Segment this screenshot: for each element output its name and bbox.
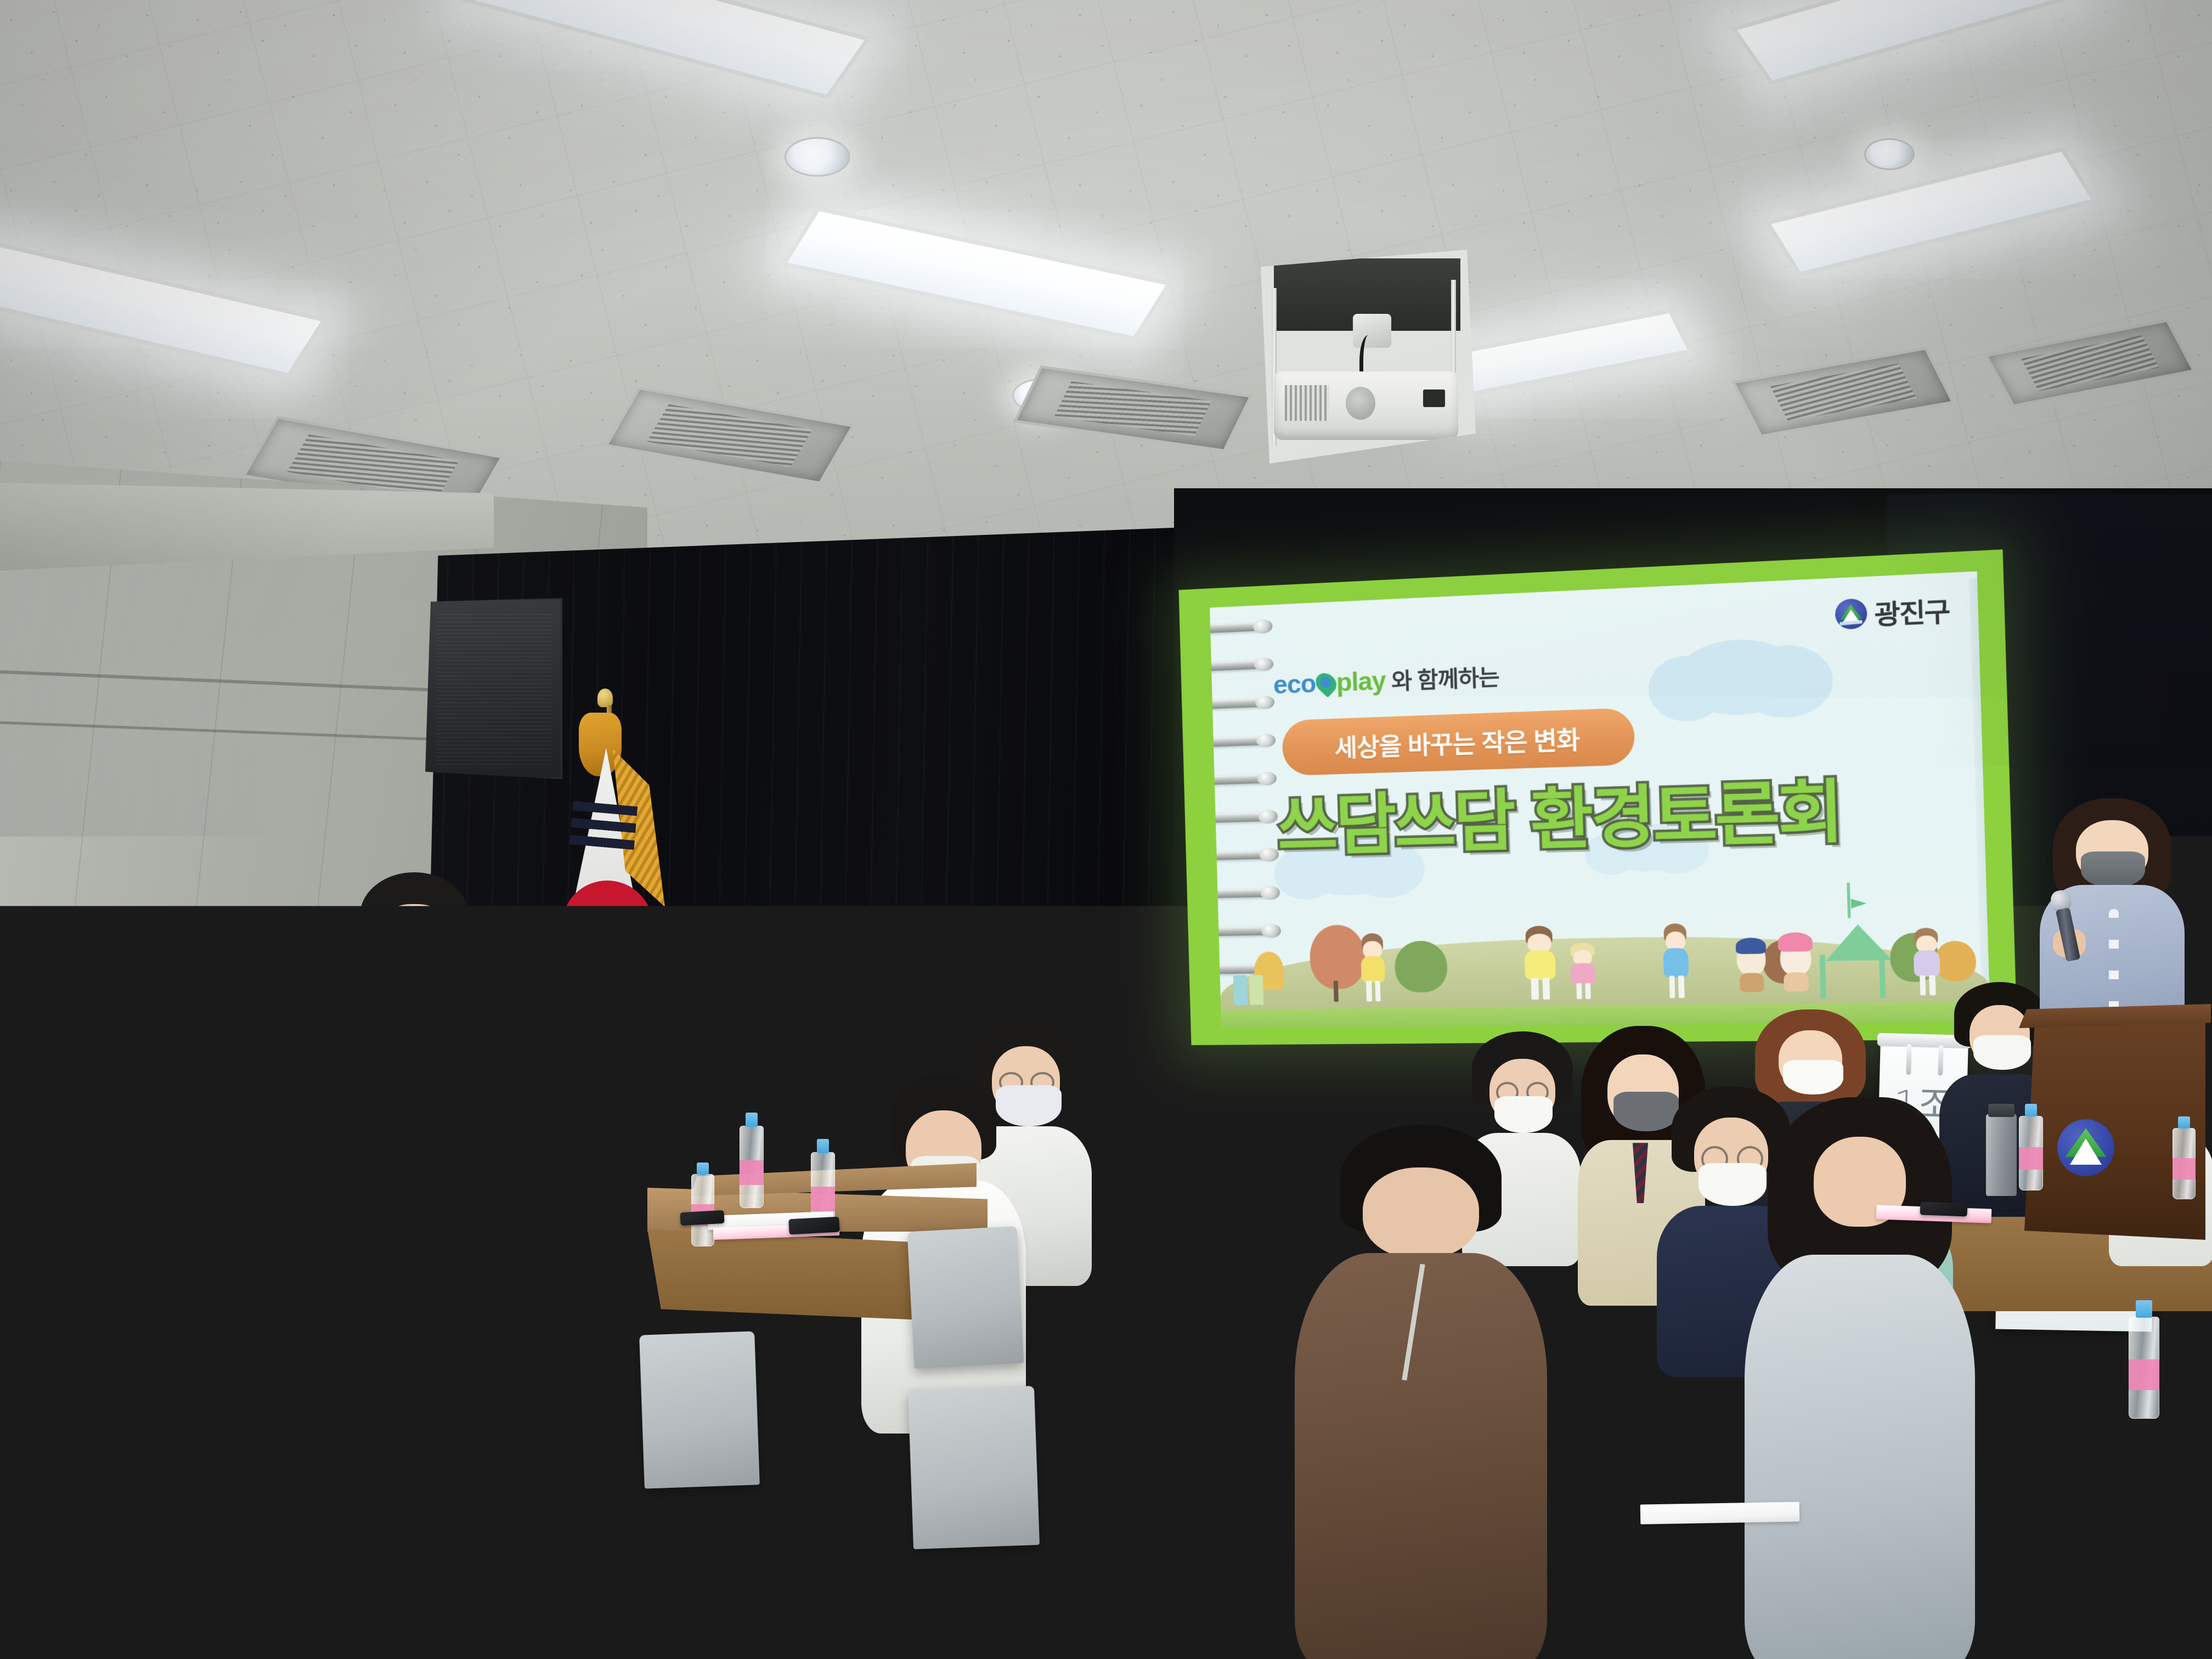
- recycling-bin-icon: [1249, 975, 1264, 1005]
- spiral-binding-ring: [1210, 812, 1274, 823]
- thermos-tumbler: [1986, 1114, 2017, 1196]
- glasses-bridge: [410, 949, 421, 951]
- smartphone: [788, 1217, 839, 1235]
- sign-clip-bar: [74, 1168, 234, 1190]
- group-sign-4: 4조: [80, 1181, 231, 1365]
- sign-ring: [759, 1048, 764, 1077]
- booklet: [1640, 1502, 1800, 1524]
- projector: [1274, 371, 1458, 440]
- moderator-at-podium: [2030, 798, 2194, 1040]
- flag-taeguk-circle: [562, 881, 653, 972]
- gwangjin-gu-logo-mark: [1835, 599, 1867, 630]
- spiral-binding-ring: [1210, 774, 1273, 785]
- ceiling-downlight: [785, 137, 850, 177]
- water-bottle: [0, 1325, 26, 1427]
- spiral-binding-ring: [1210, 850, 1275, 861]
- water-bottle: [740, 1126, 764, 1208]
- ceiling-downlight: [1864, 138, 1915, 170]
- slide-main-title: 쓰담쓰담 환경토론회: [1276, 756, 1843, 868]
- smartphone: [1920, 1202, 1968, 1217]
- projection-screen: 광진구 ecoplay 와 함께하는 세상을 바꾸는 작은 변화 쓰담쓰담 환경…: [1179, 550, 2018, 1046]
- ecoplay-logo: ecoplay: [1273, 665, 1386, 699]
- flag-trigram: [569, 801, 638, 850]
- sign-ring: [1906, 1044, 1911, 1075]
- chair: [305, 1533, 474, 1659]
- cloud-decoration: [1674, 637, 1803, 718]
- sign-ring: [118, 1187, 123, 1234]
- slide-presenter-line: ecoplay 와 함께하는: [1273, 659, 1499, 701]
- seated-participant-foreground: [1295, 1125, 1547, 1659]
- podium-gwangjin-emblem: [2057, 1119, 2114, 1176]
- water-bottle: [2129, 1317, 2159, 1419]
- ecoplay-play-text: play: [1336, 665, 1386, 696]
- pavilion-flagpole: [1847, 883, 1851, 918]
- chair: [907, 1226, 1024, 1369]
- sign-clip-bar: [733, 1036, 819, 1051]
- water-bottle: [23, 1370, 56, 1480]
- spiral-binding-ring: [1210, 927, 1277, 936]
- water-bottle: [2172, 1128, 2196, 1199]
- chair: [639, 1331, 760, 1488]
- spiral-binding-ring: [1210, 698, 1271, 709]
- tree-trunk: [1334, 980, 1339, 1002]
- volunteer-illustration: [1567, 943, 1598, 1000]
- recycling-bin-icon: [1233, 975, 1248, 1005]
- pavilion-flag-icon: [1850, 899, 1867, 912]
- water-bottle: [2019, 1116, 2043, 1190]
- mascot-character-illustration: [1778, 936, 1814, 992]
- sign-ring: [787, 1047, 793, 1076]
- volunteer-illustration: [1521, 926, 1559, 1000]
- chair: [908, 1386, 1040, 1549]
- slide-presenter-suffix: 와 함께하는: [1391, 659, 1499, 696]
- spiral-binding-ring: [1210, 888, 1276, 899]
- smartphone: [680, 1210, 724, 1226]
- volunteer-illustration: [1357, 933, 1389, 1002]
- flag-finial: [597, 689, 613, 707]
- water-bottle: [691, 1174, 714, 1246]
- photo-scene: 광진구 ecoplay 와 함께하는 세상을 바꾸는 작은 변화 쓰담쓰담 환경…: [0, 0, 2212, 1659]
- spiral-binding-ring: [1210, 622, 1269, 634]
- sign-ring: [168, 1186, 174, 1233]
- discussion-table-front: [0, 1514, 329, 1659]
- volunteer-illustration: [1660, 923, 1693, 998]
- presentation-slide: 광진구 ecoplay 와 함께하는 세상을 바꾸는 작은 변화 쓰담쓰담 환경…: [1210, 571, 1990, 1028]
- mascot-character-illustration: [1734, 940, 1769, 993]
- seated-participant-foreground: [1745, 1097, 1975, 1659]
- ecoplay-eco-text: eco: [1273, 669, 1316, 699]
- spiral-binding-ring: [1210, 736, 1272, 747]
- spiral-binding-ring: [1210, 660, 1270, 672]
- gwangjin-gu-logo-text: 광진구: [1874, 590, 1950, 632]
- slide-org-logo: 광진구: [1835, 590, 1950, 634]
- group-sign-label: 4조: [80, 1181, 231, 1365]
- projector-lift-housing: [1256, 250, 1476, 464]
- face-mask: [2081, 851, 2145, 888]
